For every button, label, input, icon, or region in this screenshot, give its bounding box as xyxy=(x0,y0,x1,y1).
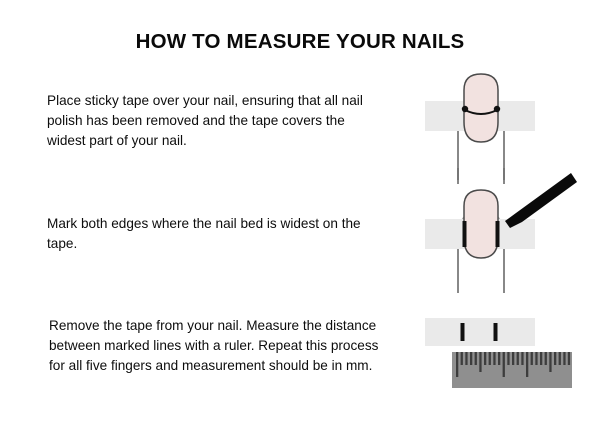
ruler xyxy=(452,352,572,388)
instruction-sheet: HOW TO MEASURE YOUR NAILS Place sticky t… xyxy=(0,0,600,428)
step-2-illustration xyxy=(415,168,595,293)
step-3-instruction: Remove the tape from your nail. Measure … xyxy=(49,316,389,376)
nail xyxy=(464,190,498,258)
page-title: HOW TO MEASURE YOUR NAILS xyxy=(0,30,600,54)
right-mark xyxy=(494,323,498,341)
nail xyxy=(464,74,498,142)
tape-strip xyxy=(425,318,535,346)
pen xyxy=(505,173,577,228)
step-2-instruction: Mark both edges where the nail bed is wi… xyxy=(47,214,387,254)
step-1-illustration xyxy=(415,60,595,180)
step-1-instruction: Place sticky tape over your nail, ensuri… xyxy=(47,91,387,151)
left-mark xyxy=(463,221,467,247)
right-edge-dot xyxy=(494,106,500,112)
left-mark xyxy=(461,323,465,341)
left-edge-dot xyxy=(462,106,468,112)
right-mark xyxy=(496,221,500,247)
step-3-illustration xyxy=(415,312,595,402)
